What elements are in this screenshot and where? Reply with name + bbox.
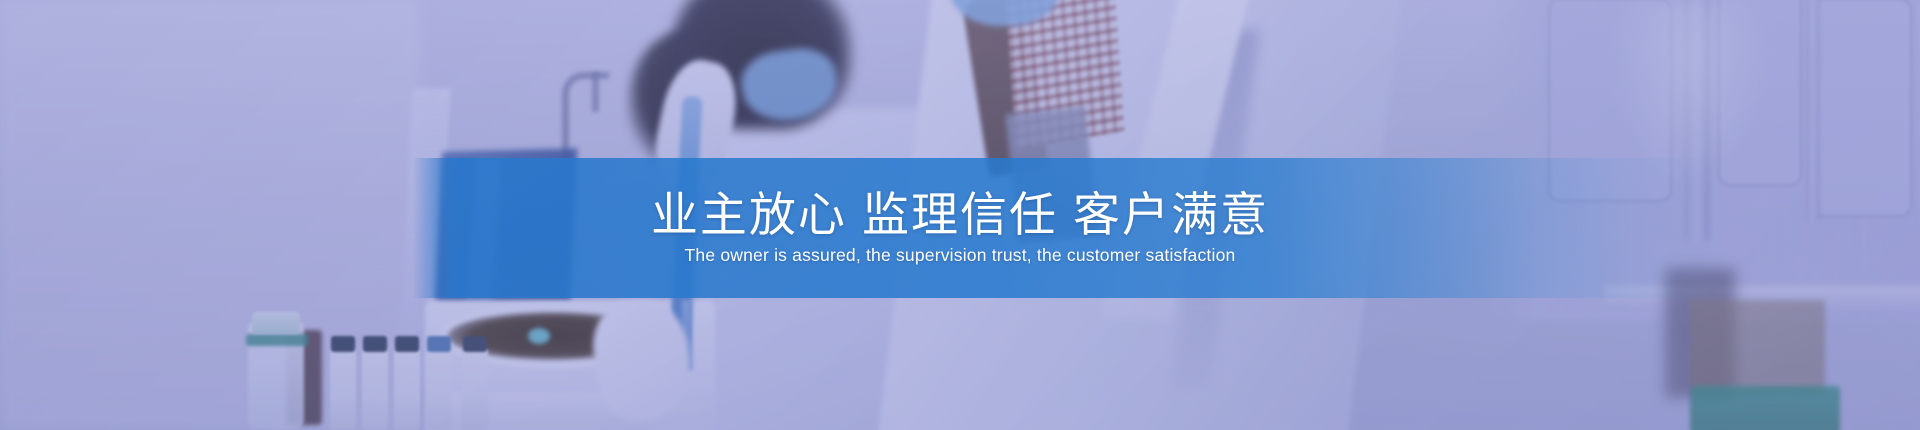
hero-banner: 业主放心 监理信任 客户满意 The owner is assured, the… — [0, 0, 1920, 430]
banner-text-block: 业主放心 监理信任 客户满意 The owner is assured, the… — [0, 158, 1920, 298]
banner-headline: 业主放心 监理信任 客户满意 — [651, 190, 1269, 239]
banner-subline: The owner is assured, the supervision tr… — [685, 245, 1236, 266]
